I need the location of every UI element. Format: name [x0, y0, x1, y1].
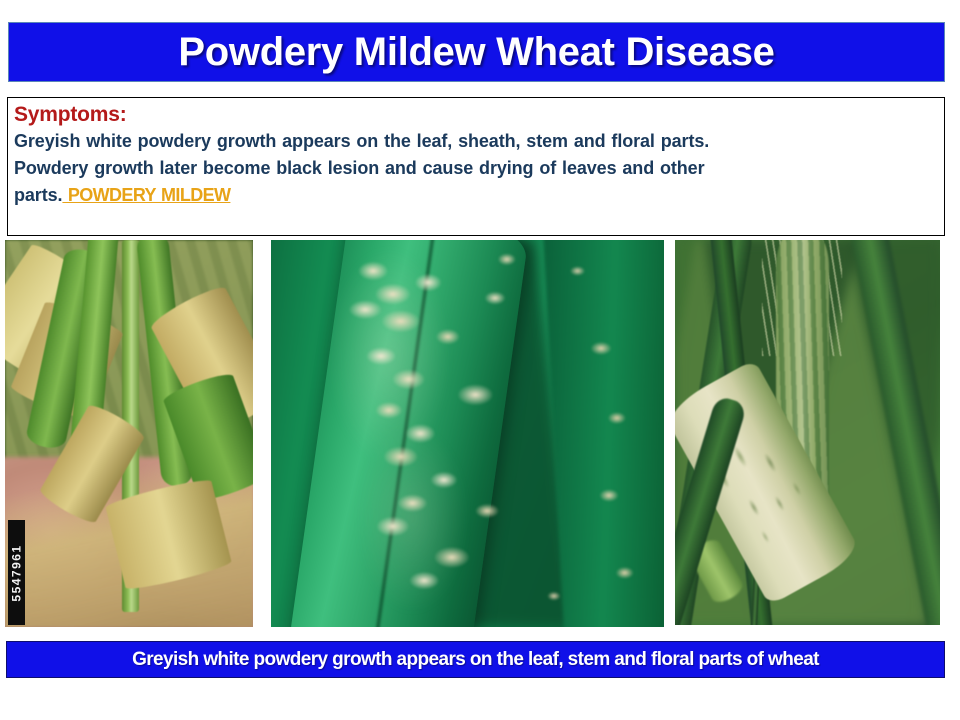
- photo-leaf-powdery-pustules: [271, 240, 664, 627]
- photo2-mildew-pustules: [271, 240, 664, 627]
- symptoms-heading: Symptoms:: [14, 102, 938, 128]
- photo-row: 5547961: [0, 240, 960, 627]
- title-banner: Powdery Mildew Wheat Disease: [8, 22, 945, 82]
- caption-text: Greyish white powdery growth appears on …: [132, 650, 819, 669]
- page-title: Powdery Mildew Wheat Disease: [178, 32, 774, 72]
- caption-bar: Greyish white powdery growth appears on …: [6, 641, 945, 678]
- powdery-mildew-link[interactable]: POWDERY MILDEW: [62, 185, 230, 205]
- symptoms-box: Symptoms: Greyish white powdery growth a…: [7, 97, 945, 236]
- photo-wheat-tiller-in-hand: 5547961: [5, 240, 253, 627]
- photo-spike-and-flag-leaf: [675, 240, 940, 625]
- symptoms-line-3: parts. POWDERY MILDEW: [14, 182, 938, 209]
- photo1-watermark: 5547961: [8, 520, 25, 625]
- symptoms-line-2: Powdery growth later become black lesion…: [14, 155, 938, 182]
- slide-root: Powdery Mildew Wheat Disease Symptoms: G…: [0, 0, 960, 720]
- symptoms-line-3-text: parts.: [14, 185, 62, 205]
- photo1-watermark-text: 5547961: [10, 544, 24, 601]
- symptoms-body: Greyish white powdery growth appears on …: [14, 128, 938, 209]
- symptoms-line-1: Greyish white powdery growth appears on …: [14, 128, 938, 155]
